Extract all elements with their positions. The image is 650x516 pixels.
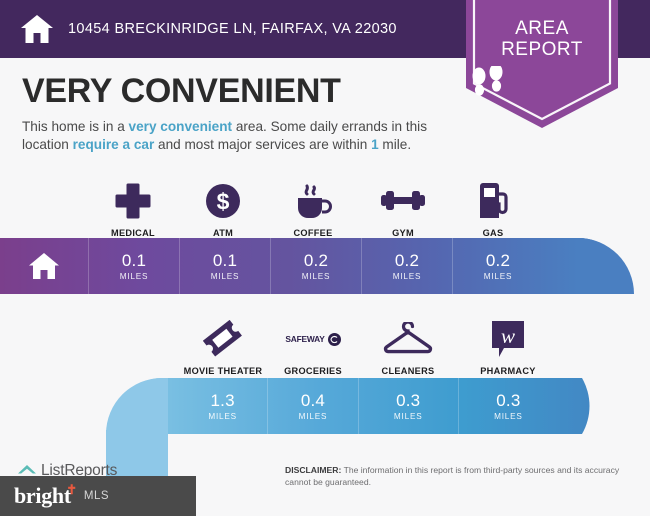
amenity-groceries: SAFEWAY GROCERIES: [268, 310, 358, 376]
distance-cell: 1.3 MILES: [178, 378, 267, 434]
safeway-wordmark: SAFEWAY: [285, 334, 324, 344]
amenity-movie-theater: MOVIE THEATER: [178, 310, 268, 376]
distance-unit: MILES: [394, 412, 423, 421]
area-report-banner: AREA REPORT: [466, 0, 618, 128]
distance-unit: MILES: [484, 272, 513, 281]
safeway-logo-icon: SAFEWAY: [285, 319, 340, 359]
distance-value: 1.3: [211, 392, 235, 410]
bright-wordmark: bright✝: [14, 483, 71, 509]
gas-pump-icon: [476, 181, 510, 221]
amenity-medical: MEDICAL: [88, 172, 178, 238]
clothes-hanger-icon: [382, 319, 434, 359]
banner-line-2: REPORT: [466, 39, 618, 60]
distance-row-1: 0.1 MILES 0.1 MILES 0.2 MILES 0.2 MILES …: [0, 238, 578, 294]
bright-text: bright: [14, 483, 71, 508]
amenity-pharmacy: w PHARMACY: [458, 310, 558, 376]
amenity-label: CLEANERS: [382, 366, 435, 376]
amenity-label: GYM: [392, 228, 414, 238]
home-marker: [0, 238, 88, 294]
home-icon: [28, 251, 60, 281]
distance-unit: MILES: [208, 412, 237, 421]
house-icon: [20, 13, 54, 45]
amenity-coffee: COFFEE: [268, 172, 358, 238]
medical-cross-icon: [115, 181, 151, 221]
amenity-label: MEDICAL: [111, 228, 155, 238]
distance-unit: MILES: [211, 272, 240, 281]
movie-ticket-icon: [203, 319, 243, 359]
distance-row-2: 1.3 MILES 0.4 MILES 0.3 MILES 0.3 MILES: [178, 378, 558, 434]
distance-cell: 0.2 MILES: [361, 238, 452, 294]
amenity-gas: GAS: [448, 172, 538, 238]
footprints-icon: [466, 66, 618, 100]
svg-text:$: $: [217, 189, 230, 215]
bright-mls-badge: bright✝ MLS: [0, 476, 196, 516]
amenity-label: GROCERIES: [284, 366, 342, 376]
distance-value: 0.2: [486, 252, 510, 270]
disclaimer-label: DISCLAIMER:: [285, 465, 341, 475]
amenity-gym: GYM: [358, 172, 448, 238]
dollar-circle-icon: $: [204, 181, 242, 221]
svg-text:w: w: [501, 324, 515, 348]
banner-title: AREA REPORT: [466, 18, 618, 60]
distance-unit: MILES: [120, 272, 149, 281]
distance-value: 0.1: [122, 252, 146, 270]
distance-unit: MILES: [393, 272, 422, 281]
amenity-cleaners: CLEANERS: [358, 310, 458, 376]
distance-unit: MILES: [494, 412, 523, 421]
distance-cell: 0.4 MILES: [267, 378, 357, 434]
trademark-icon: ✝: [66, 482, 77, 498]
amenity-icon-row-1: MEDICAL $ ATM COFFEE: [88, 172, 558, 238]
distance-value: 0.2: [395, 252, 419, 270]
amenity-label: PHARMACY: [480, 366, 535, 376]
amenity-label: ATM: [213, 228, 233, 238]
amenity-icon-row-2: MOVIE THEATER SAFEWAY GROCERIES CLEANERS: [178, 310, 558, 376]
distance-cell: 0.2 MILES: [270, 238, 361, 294]
distance-value: 0.4: [301, 392, 325, 410]
distance-cell: 0.3 MILES: [458, 378, 558, 434]
amenity-atm: $ ATM: [178, 172, 268, 238]
distance-cell: 0.2 MILES: [452, 238, 543, 294]
mls-suffix: MLS: [84, 490, 109, 502]
disclaimer-text: DISCLAIMER: The information in this repo…: [285, 465, 635, 488]
amenity-label: GAS: [483, 228, 504, 238]
distance-cell: 0.1 MILES: [88, 238, 179, 294]
distance-unit: MILES: [299, 412, 328, 421]
distance-cell: 0.1 MILES: [179, 238, 270, 294]
distance-value: 0.2: [304, 252, 328, 270]
walgreens-logo-icon: w: [490, 319, 526, 359]
amenity-label: COFFEE: [293, 228, 332, 238]
property-address: 10454 BRECKINRIDGE LN, FAIRFAX, VA 22030: [68, 21, 397, 37]
banner-line-1: AREA: [466, 18, 618, 39]
dumbbell-icon: [380, 181, 426, 221]
distance-value: 0.1: [213, 252, 237, 270]
distance-value: 0.3: [496, 392, 520, 410]
amenity-label: MOVIE THEATER: [184, 366, 263, 376]
distance-cell: 0.3 MILES: [358, 378, 458, 434]
distance-value: 0.3: [396, 392, 420, 410]
coffee-cup-icon: [292, 181, 334, 221]
distance-unit: MILES: [302, 272, 331, 281]
